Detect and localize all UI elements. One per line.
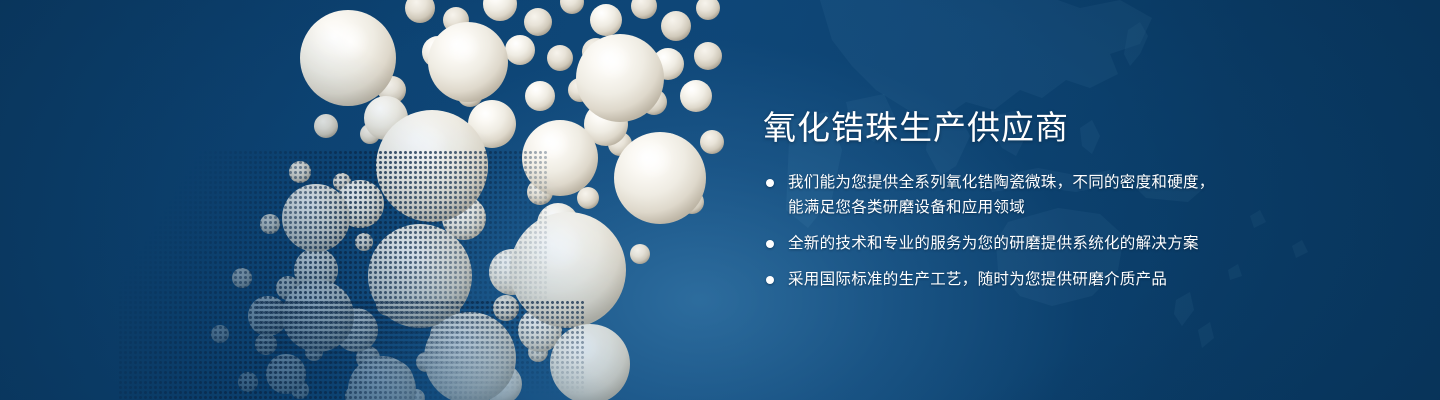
zirconia-bead-cluster-image [120, 0, 740, 400]
bullet-item-1-line-1: 我们能为您提供全系列氧化锆陶瓷微珠，不同的密度和硬度， [788, 170, 1233, 195]
banner-headline: 氧化锆珠生产供应商 [763, 108, 1233, 148]
bullet-dot-icon [766, 240, 774, 248]
banner-bullet-list: 我们能为您提供全系列氧化锆陶瓷微珠，不同的密度和硬度， 能满足您各类研磨设备和应… [763, 170, 1233, 292]
bullet-item-1-line-2: 能满足您各类研磨设备和应用领域 [788, 195, 1233, 220]
banner-copy: 氧化锆珠生产供应商 我们能为您提供全系列氧化锆陶瓷微珠，不同的密度和硬度， 能满… [763, 108, 1233, 292]
bullet-dot-icon [766, 276, 774, 284]
bullet-item-1: 我们能为您提供全系列氧化锆陶瓷微珠，不同的密度和硬度， 能满足您各类研磨设备和应… [763, 170, 1233, 220]
bullet-item-3-line-1: 采用国际标准的生产工艺，随时为您提供研磨介质产品 [788, 267, 1233, 292]
hero-banner: 氧化锆珠生产供应商 我们能为您提供全系列氧化锆陶瓷微珠，不同的密度和硬度， 能满… [0, 0, 1440, 400]
bullet-item-2: 全新的技术和专业的服务为您的研磨提供系统化的解决方案 [763, 231, 1233, 256]
bullet-item-2-line-1: 全新的技术和专业的服务为您的研磨提供系统化的解决方案 [788, 231, 1233, 256]
bullet-dot-icon [766, 179, 774, 187]
bullet-item-3: 采用国际标准的生产工艺，随时为您提供研磨介质产品 [763, 267, 1233, 292]
